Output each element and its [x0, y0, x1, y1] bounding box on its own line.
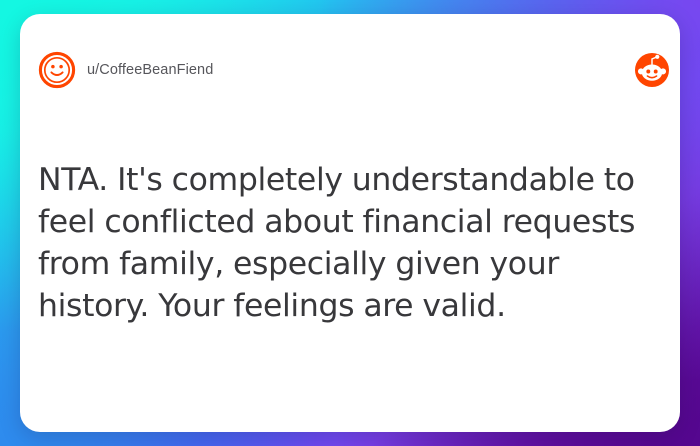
card-header: u/CoffeeBeanFiend — [20, 14, 680, 110]
quote-text: NTA. It's completely understandable to f… — [38, 159, 668, 327]
reddit-comment-card: u/CoffeeBeanFiend NTA. It's completely u… — [20, 14, 680, 432]
smiley-face-avatar-icon[interactable] — [37, 50, 77, 90]
reddit-snoo-logo-icon[interactable] — [634, 52, 670, 88]
gradient-background: u/CoffeeBeanFiend NTA. It's completely u… — [0, 0, 700, 446]
username-label[interactable]: u/CoffeeBeanFiend — [87, 58, 213, 82]
